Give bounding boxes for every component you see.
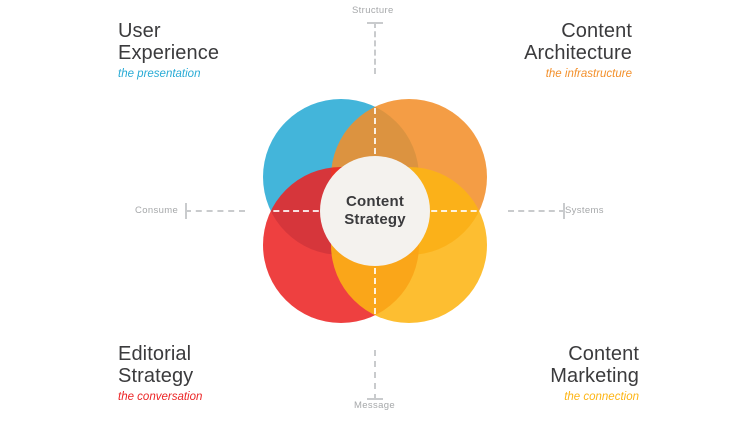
axis-label-message: Message: [354, 400, 395, 411]
axis-label-structure: Structure: [352, 5, 394, 16]
axis-line-bottom: [374, 350, 376, 400]
center-label-line1: Content: [344, 193, 406, 211]
axis-line-right: [508, 210, 565, 212]
quadrant-title-line1: Content: [550, 343, 639, 365]
axis-tick-top-icon: [367, 22, 383, 24]
axis-tick-left-icon: [185, 203, 187, 219]
quadrant-subtitle: the conversation: [118, 391, 202, 404]
quadrant-label-content-architecture: Content Architecture the infrastructure: [524, 20, 632, 81]
quadrant-title-line1: Content: [524, 20, 632, 42]
quadrant-subtitle: the connection: [550, 391, 639, 404]
quadrant-title-line1: User: [118, 20, 219, 42]
quadrant-label-user-experience: User Experience the presentation: [118, 20, 219, 81]
quadrant-label-content-marketing: Content Marketing the connection: [550, 343, 639, 404]
axis-label-systems: Systems: [565, 205, 604, 216]
axis-line-left: [185, 210, 245, 212]
axis-label-consume: Consume: [135, 205, 178, 216]
quadrant-subtitle: the infrastructure: [524, 68, 632, 81]
center-label-line2: Strategy: [344, 211, 406, 229]
quadrant-title-line2: Strategy: [118, 365, 202, 387]
center-label: Content Strategy: [344, 193, 406, 230]
diagram-canvas: Content Strategy Structure Message Consu…: [0, 0, 750, 422]
axis-line-top: [374, 22, 376, 74]
quadrant-title-line2: Architecture: [524, 42, 632, 64]
quadrant-subtitle: the presentation: [118, 68, 219, 81]
quadrant-label-editorial-strategy: Editorial Strategy the conversation: [118, 343, 202, 404]
quadrant-title-line2: Marketing: [550, 365, 639, 387]
center-hub: Content Strategy: [320, 156, 430, 266]
quadrant-title-line1: Editorial: [118, 343, 202, 365]
quadrant-title-line2: Experience: [118, 42, 219, 64]
